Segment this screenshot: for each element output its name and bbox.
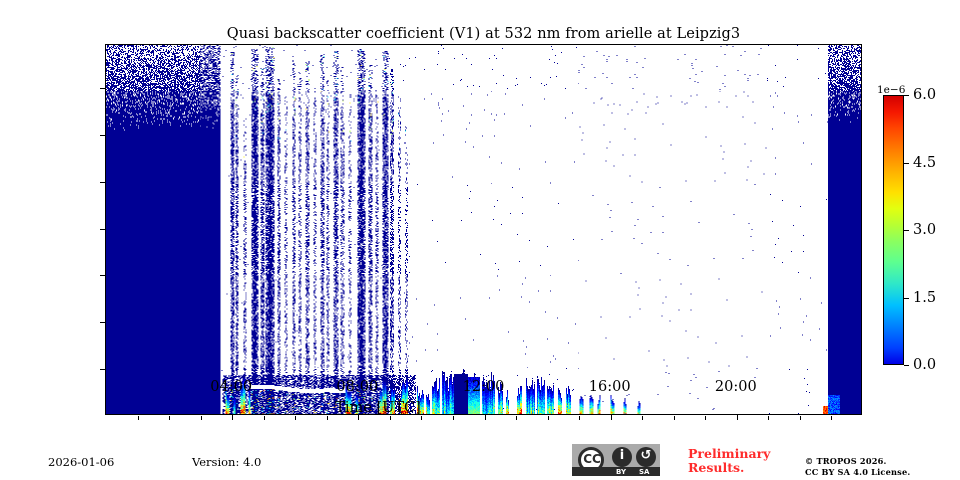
y-tick xyxy=(100,135,106,136)
cc-license-badge[interactable]: CC i ↺ BY SA xyxy=(572,444,660,476)
copyright-note: © TROPOS 2026. CC BY SA 4.0 License. xyxy=(805,456,910,477)
x-tick-minor xyxy=(421,416,422,420)
x-tick-label: 16:00 xyxy=(589,379,631,395)
colorbar-exponent-label: 1e−6 xyxy=(877,84,905,96)
x-axis-label: Time [UTC] xyxy=(335,400,421,416)
colorbar-tick-label: 6.0 xyxy=(913,87,936,103)
x-tick-minor xyxy=(138,416,139,420)
copyright-line-2: CC BY SA 4.0 License. xyxy=(805,467,910,478)
x-tick-minor xyxy=(768,416,769,420)
copyright-line-1: © TROPOS 2026. xyxy=(805,456,910,467)
colorbar-tick xyxy=(904,95,909,96)
colorbar-tick xyxy=(904,230,909,231)
x-tick xyxy=(485,414,486,420)
x-tick-label: 20:00 xyxy=(715,379,757,395)
y-tick xyxy=(100,369,106,370)
x-tick-minor xyxy=(327,416,328,420)
page-title: Quasi backscatter coefficient (V1) at 53… xyxy=(105,26,862,42)
cc-text: CC xyxy=(581,452,603,466)
figure-canvas: Quasi backscatter coefficient (V1) at 53… xyxy=(0,0,960,480)
x-tick-minor xyxy=(800,416,801,420)
cc-by-label: BY xyxy=(616,468,626,476)
y-tick xyxy=(100,88,106,89)
colorbar xyxy=(883,95,904,365)
footer-date: 2026-01-06 xyxy=(48,455,114,469)
x-tick-minor xyxy=(169,416,170,420)
x-tick-label: 04:00 xyxy=(210,379,252,395)
cc-sa-glyph: ↺ xyxy=(636,448,656,463)
x-tick-minor xyxy=(642,416,643,420)
colorbar-tick-label: 4.5 xyxy=(913,155,936,171)
x-tick xyxy=(737,414,738,420)
colorbar-tick xyxy=(904,298,909,299)
x-tick-minor xyxy=(674,416,675,420)
x-tick-minor xyxy=(453,416,454,420)
x-tick-minor xyxy=(548,416,549,420)
x-tick-minor xyxy=(516,416,517,420)
y-tick xyxy=(100,182,106,183)
y-tick xyxy=(100,275,106,276)
colorbar-tick xyxy=(904,163,909,164)
cc-by-glyph: i xyxy=(612,448,632,463)
x-tick-minor xyxy=(705,416,706,420)
heatmap-canvas xyxy=(106,45,861,414)
colorbar-tick xyxy=(904,365,909,366)
preliminary-line-2: Results. xyxy=(688,461,770,475)
x-tick-minor xyxy=(390,416,391,420)
x-tick-label: 12:00 xyxy=(463,379,505,395)
plot-axes xyxy=(105,44,862,415)
footer-version: Version: 4.0 xyxy=(192,455,261,469)
y-tick xyxy=(100,229,106,230)
cc-sa-label: SA xyxy=(639,468,649,476)
x-tick-minor xyxy=(295,416,296,420)
x-tick-minor xyxy=(831,416,832,420)
x-tick xyxy=(232,414,233,420)
preliminary-results-note: Preliminary Results. xyxy=(688,447,770,475)
x-tick-label: 08:00 xyxy=(336,379,378,395)
x-tick-minor xyxy=(579,416,580,420)
preliminary-line-1: Preliminary xyxy=(688,447,770,461)
colorbar-tick-label: 0.0 xyxy=(913,357,936,373)
y-tick xyxy=(100,322,106,323)
x-tick-minor xyxy=(201,416,202,420)
colorbar-tick-label: 1.5 xyxy=(913,290,936,306)
heatmap-area xyxy=(106,45,861,414)
colorbar-tick-label: 3.0 xyxy=(913,222,936,238)
x-tick-minor xyxy=(264,416,265,420)
x-tick xyxy=(611,414,612,420)
